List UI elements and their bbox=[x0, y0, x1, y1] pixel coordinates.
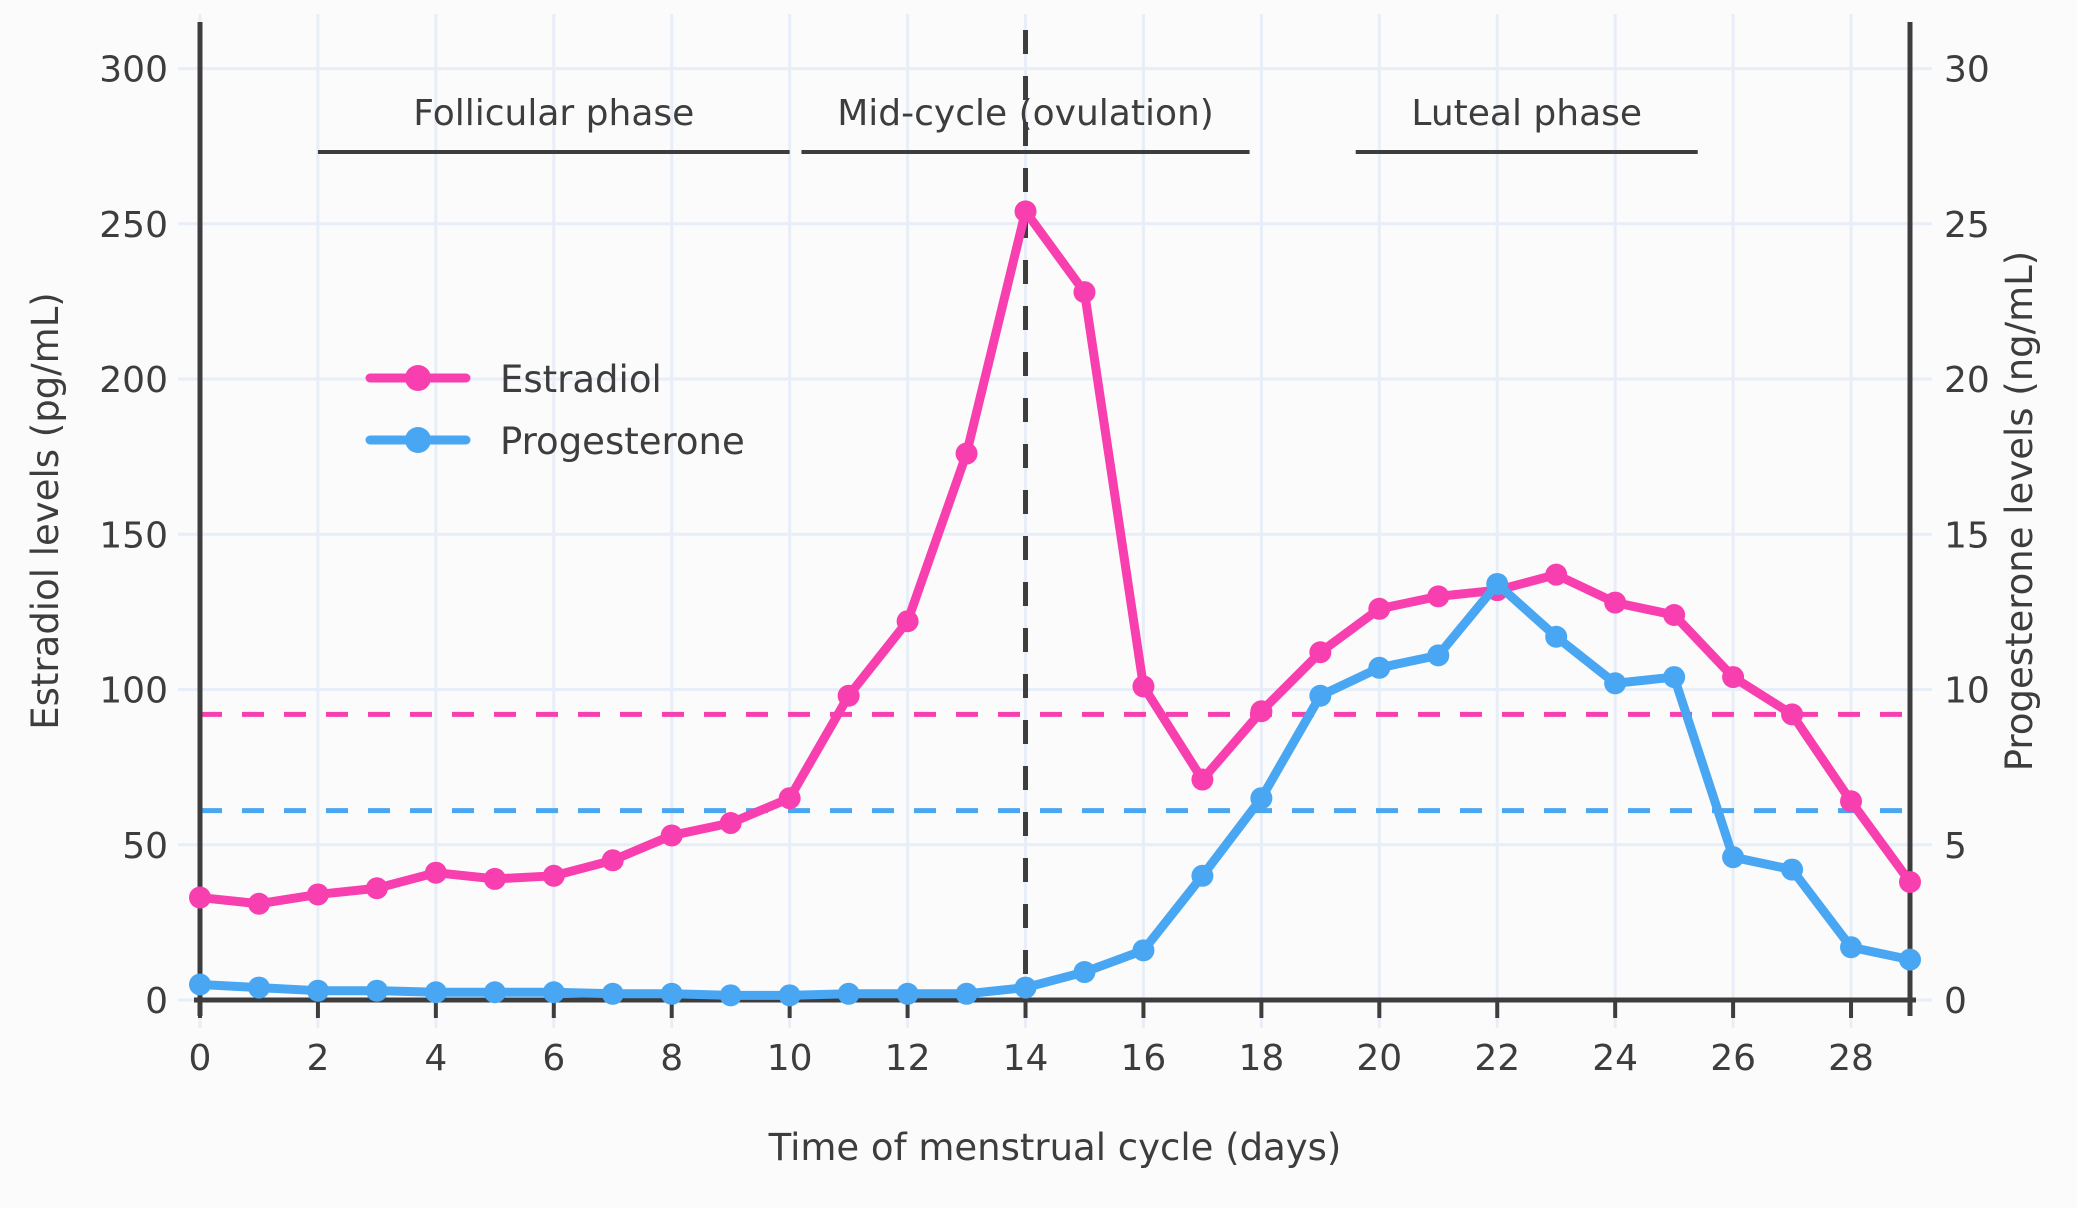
data-point[interactable] bbox=[1486, 573, 1508, 595]
data-point[interactable] bbox=[1781, 859, 1803, 881]
data-point[interactable] bbox=[1015, 977, 1037, 999]
data-point[interactable] bbox=[1368, 657, 1390, 679]
x-tick-label: 16 bbox=[1121, 1038, 1167, 1079]
legend-label-progesterone: Progesterone bbox=[500, 420, 745, 463]
x-tick-label: 24 bbox=[1592, 1038, 1638, 1079]
y-right-tick-label: 15 bbox=[1944, 515, 1990, 556]
data-point[interactable] bbox=[1722, 666, 1744, 688]
y-right-tick-label: 20 bbox=[1944, 360, 1990, 401]
x-tick-label: 8 bbox=[660, 1038, 683, 1079]
data-point[interactable] bbox=[189, 973, 211, 995]
data-point[interactable] bbox=[956, 983, 978, 1005]
x-tick-label: 18 bbox=[1238, 1038, 1284, 1079]
data-point[interactable] bbox=[1545, 626, 1567, 648]
data-point[interactable] bbox=[602, 849, 624, 871]
data-point[interactable] bbox=[1015, 200, 1037, 222]
data-point[interactable] bbox=[1250, 700, 1272, 722]
y-right-tick-label: 10 bbox=[1944, 671, 1990, 712]
data-point[interactable] bbox=[484, 981, 506, 1003]
data-point[interactable] bbox=[425, 981, 447, 1003]
data-point[interactable] bbox=[1132, 939, 1154, 961]
data-point[interactable] bbox=[248, 893, 270, 915]
x-tick-label: 22 bbox=[1474, 1038, 1520, 1079]
data-point[interactable] bbox=[661, 824, 683, 846]
y-left-tick-label: 100 bbox=[99, 671, 168, 712]
data-point[interactable] bbox=[1250, 787, 1272, 809]
y-right-tick-label: 25 bbox=[1944, 205, 1990, 246]
data-point[interactable] bbox=[1604, 672, 1626, 694]
data-point[interactable] bbox=[897, 610, 919, 632]
data-point[interactable] bbox=[543, 865, 565, 887]
y-left-tick-label: 200 bbox=[99, 360, 168, 401]
data-point[interactable] bbox=[1427, 644, 1449, 666]
legend-marker-estradiol bbox=[405, 365, 431, 391]
data-point[interactable] bbox=[366, 877, 388, 899]
data-point[interactable] bbox=[720, 812, 742, 834]
chart-root: 0246810121416182022242628050100150200250… bbox=[0, 0, 2077, 1208]
data-point[interactable] bbox=[1073, 281, 1095, 303]
data-point[interactable] bbox=[1840, 790, 1862, 812]
y-right-tick-label: 5 bbox=[1944, 826, 1967, 867]
x-tick-label: 2 bbox=[306, 1038, 329, 1079]
data-point[interactable] bbox=[1073, 961, 1095, 983]
y-left-tick-label: 50 bbox=[122, 826, 168, 867]
data-point[interactable] bbox=[1604, 592, 1626, 614]
data-point[interactable] bbox=[307, 883, 329, 905]
data-point[interactable] bbox=[1191, 769, 1213, 791]
data-point[interactable] bbox=[779, 984, 801, 1006]
x-tick-label: 26 bbox=[1710, 1038, 1756, 1079]
hormone-cycle-line-chart: 0246810121416182022242628050100150200250… bbox=[0, 0, 2077, 1208]
x-tick-label: 4 bbox=[424, 1038, 447, 1079]
data-point[interactable] bbox=[1132, 675, 1154, 697]
x-tick-label: 28 bbox=[1828, 1038, 1874, 1079]
x-tick-label: 20 bbox=[1356, 1038, 1402, 1079]
data-point[interactable] bbox=[661, 983, 683, 1005]
phase-label-mid-cycle-phase: Mid-cycle (ovulation) bbox=[837, 93, 1214, 134]
x-tick-label: 6 bbox=[542, 1038, 565, 1079]
data-point[interactable] bbox=[1899, 871, 1921, 893]
y-right-tick-label: 30 bbox=[1944, 50, 1990, 91]
y-left-tick-label: 250 bbox=[99, 205, 168, 246]
data-point[interactable] bbox=[1840, 936, 1862, 958]
data-point[interactable] bbox=[1545, 564, 1567, 586]
y-left-tick-label: 0 bbox=[145, 981, 168, 1022]
y-left-tick-label: 300 bbox=[99, 50, 168, 91]
data-point[interactable] bbox=[720, 984, 742, 1006]
data-point[interactable] bbox=[1781, 703, 1803, 725]
phase-label-follicular-phase: Follicular phase bbox=[413, 93, 694, 134]
data-point[interactable] bbox=[838, 685, 860, 707]
x-tick-label: 10 bbox=[767, 1038, 813, 1079]
phase-label-luteal-phase: Luteal phase bbox=[1411, 93, 1642, 134]
data-point[interactable] bbox=[1427, 585, 1449, 607]
data-point[interactable] bbox=[1899, 949, 1921, 971]
data-point[interactable] bbox=[602, 983, 624, 1005]
x-axis-title: Time of menstrual cycle (days) bbox=[768, 1126, 1342, 1169]
data-point[interactable] bbox=[1309, 641, 1331, 663]
data-point[interactable] bbox=[248, 977, 270, 999]
data-point[interactable] bbox=[1663, 666, 1685, 688]
data-point[interactable] bbox=[779, 787, 801, 809]
data-point[interactable] bbox=[484, 868, 506, 890]
data-point[interactable] bbox=[1191, 865, 1213, 887]
x-tick-label: 14 bbox=[1003, 1038, 1049, 1079]
data-point[interactable] bbox=[838, 983, 860, 1005]
y-left-axis-title: Estradiol levels (pg/mL) bbox=[24, 292, 67, 729]
data-point[interactable] bbox=[1663, 604, 1685, 626]
data-point[interactable] bbox=[1309, 685, 1331, 707]
y-right-axis-title: Progesterone levels (ng/mL) bbox=[1998, 251, 2041, 771]
data-point[interactable] bbox=[366, 980, 388, 1002]
data-point[interactable] bbox=[307, 980, 329, 1002]
x-tick-label: 0 bbox=[189, 1038, 212, 1079]
data-point[interactable] bbox=[189, 887, 211, 909]
data-point[interactable] bbox=[543, 981, 565, 1003]
y-right-tick-label: 0 bbox=[1944, 981, 1967, 1022]
data-point[interactable] bbox=[1722, 846, 1744, 868]
y-left-tick-label: 150 bbox=[99, 515, 168, 556]
legend-marker-progesterone bbox=[405, 427, 431, 453]
data-point[interactable] bbox=[425, 862, 447, 884]
data-point[interactable] bbox=[956, 443, 978, 465]
data-point[interactable] bbox=[1368, 598, 1390, 620]
x-tick-label: 12 bbox=[885, 1038, 931, 1079]
chart-background bbox=[0, 0, 2077, 1208]
data-point[interactable] bbox=[897, 983, 919, 1005]
legend-label-estradiol: Estradiol bbox=[500, 358, 662, 401]
